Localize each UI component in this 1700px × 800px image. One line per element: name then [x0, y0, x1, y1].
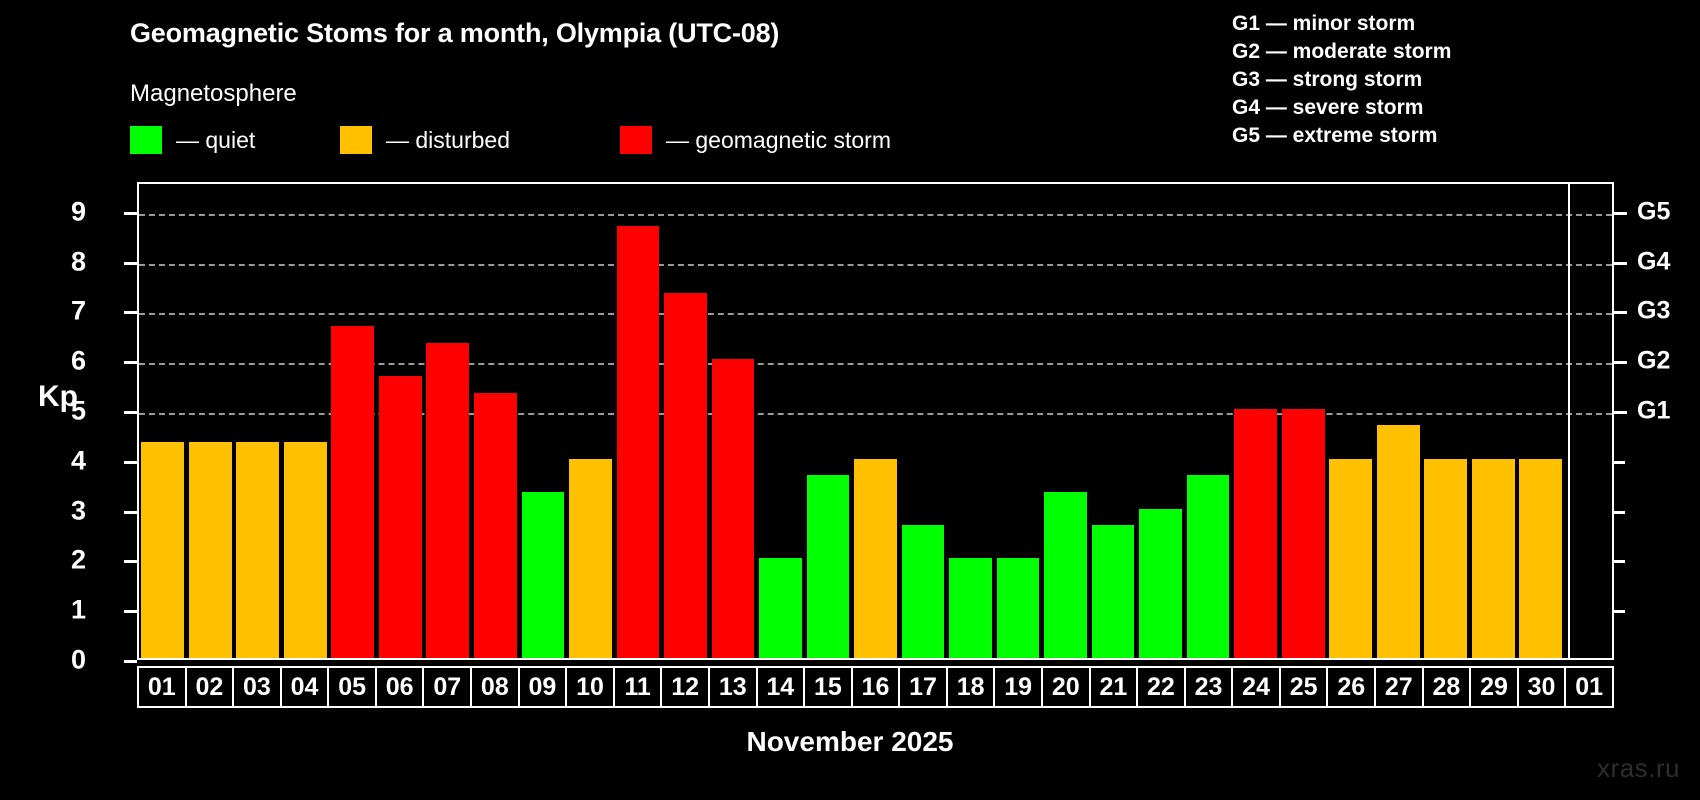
- y-tick-label-4: 4: [46, 445, 86, 476]
- bar-slot-12-11[interactable]: [662, 184, 710, 658]
- bar-slot-28-27[interactable]: [1422, 184, 1470, 658]
- bar-slot-29-28[interactable]: [1469, 184, 1517, 658]
- date-cell-10-9[interactable]: 10: [567, 668, 615, 706]
- bar-day-25[interactable]: [1282, 409, 1325, 658]
- bar-slot-30-29[interactable]: [1517, 184, 1565, 658]
- g-tick-label-G2: G2: [1637, 347, 1670, 376]
- date-cell-16-15[interactable]: 16: [853, 668, 901, 706]
- bar-day-22[interactable]: [1139, 509, 1182, 658]
- bar-slot-17-16[interactable]: [899, 184, 947, 658]
- y-tick-mark-7: [124, 311, 137, 314]
- bar-slot-05-4[interactable]: [329, 184, 377, 658]
- y-tick-mark-3: [124, 511, 137, 514]
- g-scale-row-g5: G5 — extreme storm: [1232, 122, 1451, 150]
- date-cell-18-17[interactable]: 18: [948, 668, 996, 706]
- bar-day-05[interactable]: [331, 326, 374, 658]
- bar-slot-07-6[interactable]: [424, 184, 472, 658]
- bar-day-23[interactable]: [1187, 475, 1230, 658]
- g-tick-mark-minor-3: [1614, 511, 1625, 514]
- g-scale-row-g2: G2 — moderate storm: [1232, 38, 1451, 66]
- date-cell-09-8[interactable]: 09: [520, 668, 568, 706]
- y-tick-mark-6: [124, 361, 137, 364]
- bar-slot-02-1[interactable]: [187, 184, 235, 658]
- g-tick-label-G3: G3: [1637, 297, 1670, 326]
- legend-label-disturbed: — disturbed: [386, 129, 510, 152]
- y-tick-label-6: 6: [46, 346, 86, 377]
- legend-item-storm: — geomagnetic storm: [620, 125, 891, 155]
- date-axis-strip: 0102030405060708091011121314151617181920…: [137, 666, 1614, 708]
- date-cell-30-29[interactable]: 30: [1519, 668, 1567, 706]
- bar-day-29[interactable]: [1472, 459, 1515, 658]
- bar-slot-25-24[interactable]: [1279, 184, 1327, 658]
- bar-day-27[interactable]: [1377, 425, 1420, 658]
- g-tick-mark-minor-1: [1614, 610, 1625, 613]
- bar-day-26[interactable]: [1329, 459, 1372, 658]
- bar-day-04[interactable]: [284, 442, 327, 658]
- orange-square-icon: [340, 126, 372, 154]
- date-cell-27-26[interactable]: 27: [1376, 668, 1424, 706]
- red-square-icon: [620, 126, 652, 154]
- bar-slot-27-26[interactable]: [1374, 184, 1422, 658]
- legend-label-quiet: — quiet: [176, 129, 255, 152]
- date-cell-24-23[interactable]: 24: [1233, 668, 1281, 706]
- bar-day-02[interactable]: [189, 442, 232, 658]
- bar-day-19[interactable]: [997, 558, 1040, 658]
- bar-slot-03-2[interactable]: [234, 184, 282, 658]
- y-tick-mark-5: [124, 411, 137, 414]
- date-cell-07-6[interactable]: 07: [424, 668, 472, 706]
- bar-day-01[interactable]: [141, 442, 184, 658]
- g-tick-mark-minor-4: [1614, 461, 1625, 464]
- bar-slot-23-22[interactable]: [1184, 184, 1232, 658]
- bar-day-24[interactable]: [1234, 409, 1277, 658]
- g-scale-legend: G1 — minor storm G2 — moderate storm G3 …: [1232, 10, 1451, 150]
- date-cell-20-19[interactable]: 20: [1043, 668, 1091, 706]
- legend-label-storm: — geomagnetic storm: [666, 129, 891, 152]
- bar-day-16[interactable]: [854, 459, 897, 658]
- date-cell-26-25[interactable]: 26: [1328, 668, 1376, 706]
- bar-series: [139, 184, 1612, 658]
- bar-slot-13-12[interactable]: [709, 184, 757, 658]
- bar-slot-18-17[interactable]: [947, 184, 995, 658]
- g-tick-mark-G2: [1614, 361, 1627, 364]
- g-scale-row-g4: G4 — severe storm: [1232, 94, 1451, 122]
- date-cell-21-20[interactable]: 21: [1091, 668, 1139, 706]
- date-cell-19-18[interactable]: 19: [995, 668, 1043, 706]
- bar-slot-04-3[interactable]: [282, 184, 330, 658]
- date-cell-14-13[interactable]: 14: [758, 668, 806, 706]
- g-tick-mark-G5: [1614, 212, 1627, 215]
- y-tick-label-8: 8: [46, 246, 86, 277]
- date-cell-23-22[interactable]: 23: [1186, 668, 1234, 706]
- date-cell-05-4[interactable]: 05: [329, 668, 377, 706]
- bar-day-13[interactable]: [712, 359, 755, 658]
- bar-slot-11-10[interactable]: [614, 184, 662, 658]
- bar-day-15[interactable]: [807, 475, 850, 658]
- y-tick-label-3: 3: [46, 495, 86, 526]
- y-tick-label-5: 5: [46, 396, 86, 427]
- bar-day-30[interactable]: [1519, 459, 1562, 658]
- green-square-icon: [130, 126, 162, 154]
- month-separator: [1568, 182, 1570, 660]
- bar-slot-15-14[interactable]: [804, 184, 852, 658]
- bar-day-17[interactable]: [902, 525, 945, 658]
- g-scale-row-g1: G1 — minor storm: [1232, 10, 1451, 38]
- watermark: xras.ru: [1597, 753, 1680, 784]
- g-tick-mark-minor-2: [1614, 560, 1625, 563]
- plot-inner: [139, 184, 1612, 658]
- y-tick-mark-9: [124, 212, 137, 215]
- y-tick-label-2: 2: [46, 545, 86, 576]
- bar-day-18[interactable]: [949, 558, 992, 658]
- bar-slot-14-13[interactable]: [757, 184, 805, 658]
- y-tick-mark-1: [124, 610, 137, 613]
- bar-slot-24-23[interactable]: [1232, 184, 1280, 658]
- bar-day-07[interactable]: [426, 343, 469, 658]
- chart-subtitle: Magnetosphere: [130, 80, 297, 108]
- bar-day-11[interactable]: [617, 226, 660, 658]
- bar-day-03[interactable]: [236, 442, 279, 658]
- bar-day-09[interactable]: [522, 492, 565, 658]
- bar-slot-16-15[interactable]: [852, 184, 900, 658]
- date-cell-06-5[interactable]: 06: [377, 668, 425, 706]
- date-cell-28-27[interactable]: 28: [1424, 668, 1472, 706]
- g-tick-mark-G3: [1614, 311, 1627, 314]
- bar-day-20[interactable]: [1044, 492, 1087, 658]
- bar-slot-10-9[interactable]: [567, 184, 615, 658]
- y-tick-mark-2: [124, 560, 137, 563]
- bar-slot-08-7[interactable]: [472, 184, 520, 658]
- date-cell-12-11[interactable]: 12: [662, 668, 710, 706]
- bar-slot-01-30[interactable]: [1564, 184, 1612, 658]
- x-axis-caption: November 2025: [0, 726, 1700, 758]
- g-tick-label-G4: G4: [1637, 247, 1670, 276]
- date-cell-29-28[interactable]: 29: [1471, 668, 1519, 706]
- date-cell-04-3[interactable]: 04: [282, 668, 330, 706]
- date-cell-17-16[interactable]: 17: [900, 668, 948, 706]
- date-cell-25-24[interactable]: 25: [1281, 668, 1329, 706]
- y-tick-mark-0: [124, 660, 137, 663]
- date-cell-03-2[interactable]: 03: [234, 668, 282, 706]
- y-tick-label-1: 1: [46, 595, 86, 626]
- date-cell-15-14[interactable]: 15: [805, 668, 853, 706]
- legend-item-quiet: — quiet: [130, 125, 255, 155]
- plot-area: [137, 182, 1614, 660]
- bar-slot-20-19[interactable]: [1042, 184, 1090, 658]
- g-tick-label-G5: G5: [1637, 197, 1670, 226]
- y-tick-label-7: 7: [46, 296, 86, 327]
- bar-day-21[interactable]: [1092, 525, 1135, 658]
- bar-day-10[interactable]: [569, 459, 612, 658]
- bar-day-08[interactable]: [474, 393, 517, 658]
- date-cell-08-7[interactable]: 08: [472, 668, 520, 706]
- bar-slot-21-20[interactable]: [1089, 184, 1137, 658]
- g-scale-row-g3: G3 — strong storm: [1232, 66, 1451, 94]
- bar-slot-01-0[interactable]: [139, 184, 187, 658]
- y-tick-label-0: 0: [46, 645, 86, 676]
- bar-day-06[interactable]: [379, 376, 422, 658]
- bar-slot-09-8[interactable]: [519, 184, 567, 658]
- y-tick-label-9: 9: [46, 196, 86, 227]
- g-tick-mark-G4: [1614, 262, 1627, 265]
- bar-slot-22-21[interactable]: [1137, 184, 1185, 658]
- bar-slot-19-18[interactable]: [994, 184, 1042, 658]
- bar-day-28[interactable]: [1424, 459, 1467, 658]
- y-tick-mark-4: [124, 461, 137, 464]
- date-cell-22-21[interactable]: 22: [1138, 668, 1186, 706]
- date-cell-13-12[interactable]: 13: [710, 668, 758, 706]
- bar-day-14[interactable]: [759, 558, 802, 658]
- page-title: Geomagnetic Stoms for a month, Olympia (…: [130, 18, 779, 49]
- g-tick-label-G1: G1: [1637, 397, 1670, 426]
- bar-day-12[interactable]: [664, 293, 707, 658]
- bar-slot-06-5[interactable]: [377, 184, 425, 658]
- date-cell-01-0[interactable]: 01: [139, 668, 187, 706]
- y-tick-mark-8: [124, 262, 137, 265]
- legend-item-disturbed: — disturbed: [340, 125, 510, 155]
- date-cell-02-1[interactable]: 02: [187, 668, 235, 706]
- g-tick-mark-G1: [1614, 411, 1627, 414]
- bar-slot-26-25[interactable]: [1327, 184, 1375, 658]
- date-cell-11-10[interactable]: 11: [615, 668, 663, 706]
- date-cell-01-30[interactable]: 01: [1566, 668, 1612, 706]
- chart-page: Geomagnetic Stoms for a month, Olympia (…: [0, 0, 1700, 800]
